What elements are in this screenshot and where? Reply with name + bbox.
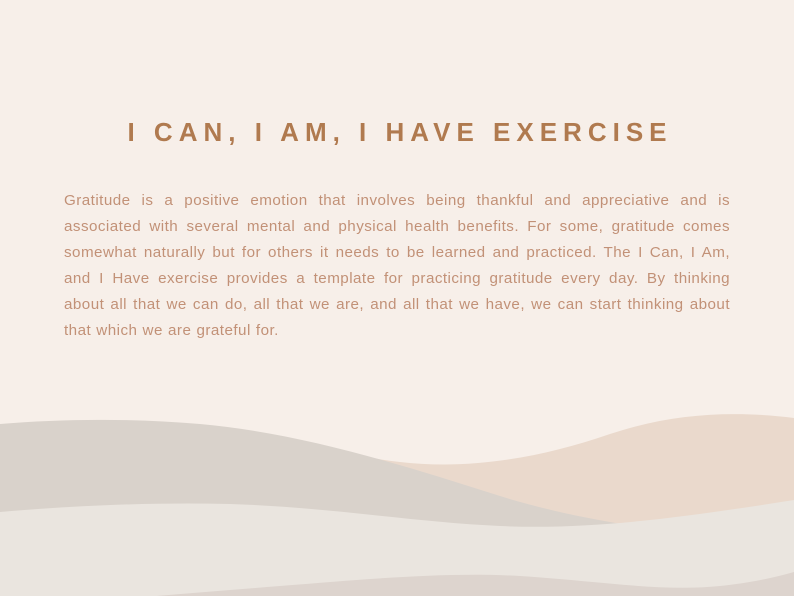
slide-canvas: I CAN, I AM, I HAVE EXERCISE Gratitude i… (0, 0, 794, 596)
page-title: I CAN, I AM, I HAVE EXERCISE (0, 119, 794, 145)
decorative-wave-footer (0, 396, 794, 596)
body-paragraph: Gratitude is a positive emotion that inv… (64, 188, 730, 343)
